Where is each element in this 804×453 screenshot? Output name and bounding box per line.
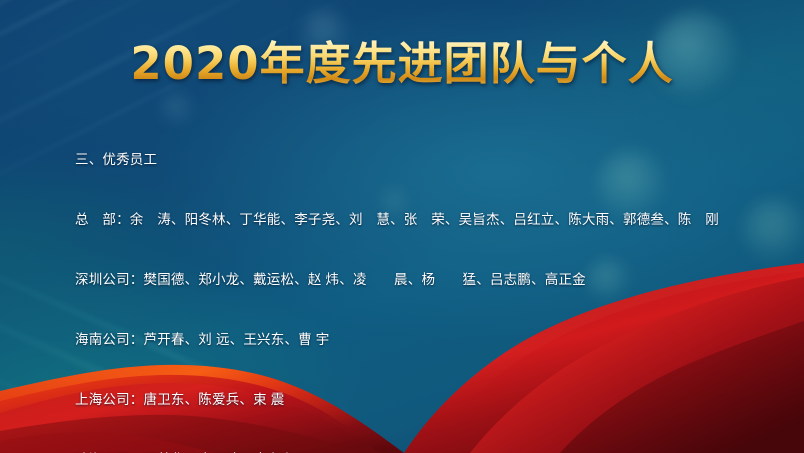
list-line: 上海公司：唐卫东、陈爱兵、束 震 [75, 390, 801, 410]
slide-title: 2020年度先进团队与个人 [130, 40, 673, 89]
title-container: 2020年度先进团队与个人 [0, 40, 804, 89]
list-line: 三、优秀员工 [75, 150, 801, 170]
list-line: 总 部：余 涛、阳冬林、丁华能、李子尧、刘 慧、张 荣、吴旨杰、吕红立、陈大雨、… [75, 210, 801, 230]
list-line: 海南公司：芦开春、刘 远、王兴东、曹 宇 [75, 330, 801, 350]
presentation-slide: 2020年度先进团队与个人 三、优秀员工 总 部：余 涛、阳冬林、丁华能、李子尧… [0, 0, 804, 453]
employee-list: 三、优秀员工 总 部：余 涛、阳冬林、丁华能、李子尧、刘 慧、张 荣、吴旨杰、吕… [75, 110, 801, 453]
list-line: 深圳公司：樊国德、郑小龙、戴运松、赵 炜、凌 晨、杨 猛、吕志鹏、高正金 [75, 270, 801, 290]
